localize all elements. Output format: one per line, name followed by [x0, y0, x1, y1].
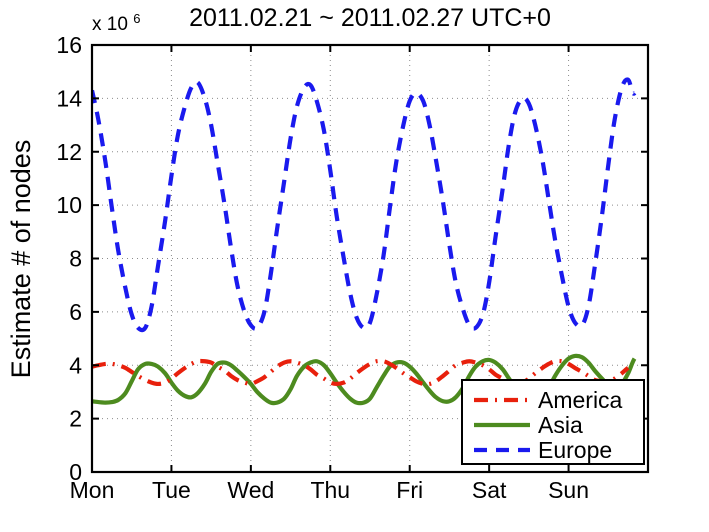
legend[interactable]: AmericaAsiaEurope	[462, 380, 644, 464]
y-tick-label: 14	[56, 85, 82, 111]
series-line-europe	[92, 80, 635, 331]
x-tick-label: Sat	[472, 477, 507, 503]
legend-label-europe: Europe	[538, 437, 612, 463]
line-chart: 0246810121416MonTueWedThuFriSatSun Ameri…	[0, 0, 709, 532]
y-tick-label: 12	[56, 139, 82, 165]
x-tick-label: Fri	[396, 477, 423, 503]
y-tick-label: 16	[56, 32, 82, 58]
axis-exponent-label: x 10 6	[92, 11, 140, 35]
chart-title: 2011.02.21 ~ 2011.02.27 UTC+0	[189, 4, 551, 32]
y-axis-label: Estimate # of nodes	[6, 140, 36, 379]
x-tick-label: Tue	[152, 477, 191, 503]
data-series-layer	[92, 80, 635, 404]
legend-label-america: America	[538, 387, 623, 413]
y-tick-label: 2	[69, 406, 82, 432]
chart-figure: 0246810121416MonTueWedThuFriSatSun Ameri…	[0, 0, 709, 532]
y-tick-label: 8	[69, 246, 82, 272]
x-tick-label: Wed	[227, 477, 274, 503]
x-tick-label: Sun	[548, 477, 589, 503]
y-tick-label: 4	[69, 352, 82, 378]
y-tick-label: 10	[56, 192, 82, 218]
legend-label-asia: Asia	[538, 412, 583, 438]
x-tick-label: Mon	[70, 477, 115, 503]
x-tick-label: Thu	[310, 477, 350, 503]
y-tick-label: 6	[69, 299, 82, 325]
